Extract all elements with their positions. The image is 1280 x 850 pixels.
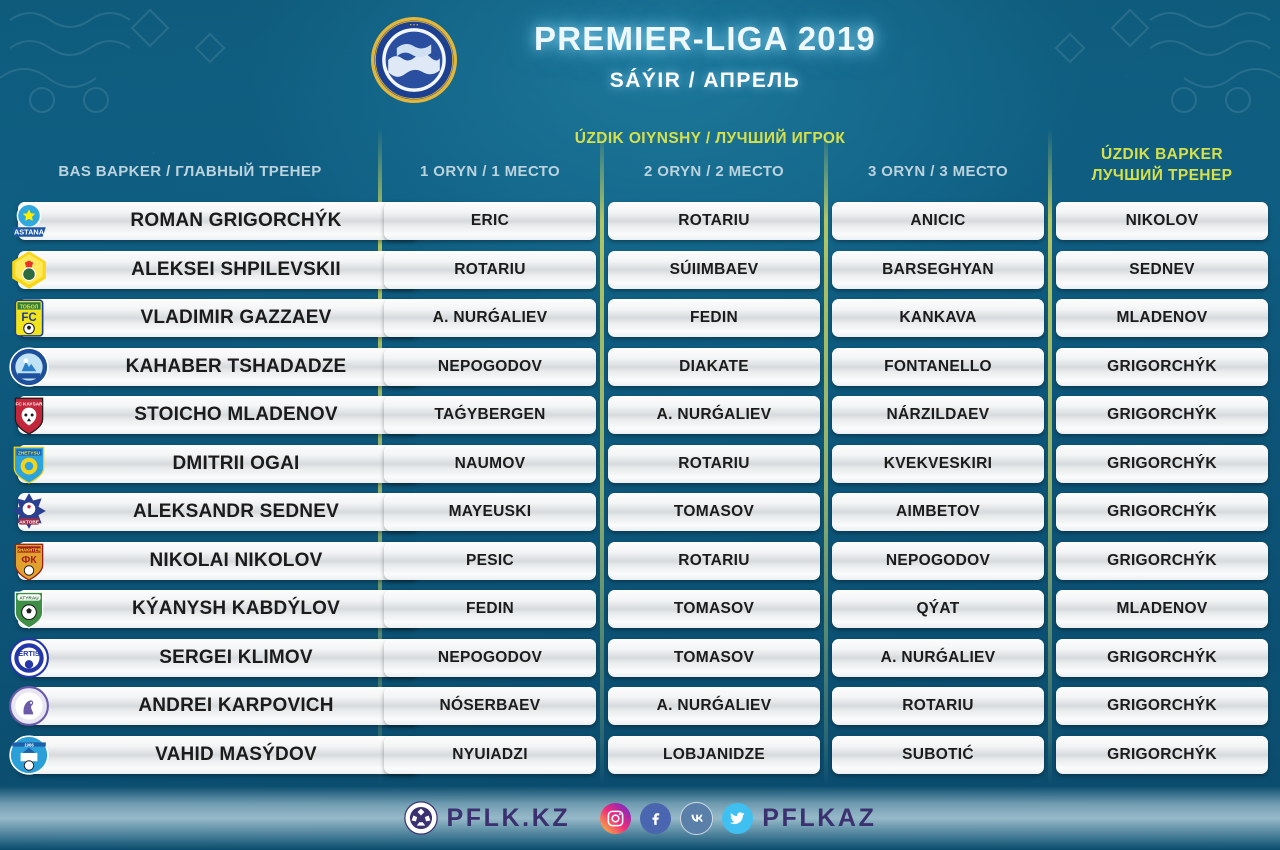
place2-cell: DIAKATE bbox=[608, 348, 820, 386]
svg-text:SHAKHTER: SHAKHTER bbox=[17, 547, 40, 552]
club-crest-ordabasy-icon bbox=[8, 346, 50, 388]
club-crest-astana-icon: ASTANA bbox=[8, 200, 50, 242]
coach-row: NIKOLAI NIKOLOV bbox=[18, 542, 418, 580]
page-subtitle: SÁÝIR / АПРЕЛЬ bbox=[470, 69, 940, 93]
svg-text:ФК: ФК bbox=[21, 554, 37, 566]
best-coach-cell: GRIGORCHÝK bbox=[1056, 687, 1268, 725]
club-crest-tobol-icon: ТОБОЛFC bbox=[8, 297, 50, 339]
place3-cell: BARSEGHYAN bbox=[832, 251, 1044, 289]
pfl-kazakhstan-crest-icon: • • • bbox=[371, 17, 457, 103]
coach-name: SERGEI KLIMOV bbox=[76, 647, 418, 669]
column-divider-3 bbox=[824, 128, 828, 786]
vk-icon[interactable] bbox=[680, 802, 713, 835]
place3-cell: KANKAVA bbox=[832, 299, 1044, 337]
place1-cell: PESIC bbox=[384, 542, 596, 580]
coach-name: KÝANYSH KABDÝLOV bbox=[76, 598, 418, 620]
club-crest-shakhter-icon: SHAKHTERФК bbox=[8, 540, 50, 582]
svg-text:ZHETYSU: ZHETYSU bbox=[18, 450, 41, 456]
place1-cell: A. NURǴALIEV bbox=[384, 299, 596, 337]
pflk-logo-icon bbox=[404, 801, 438, 835]
club-crest-aktobe-icon: AKTOBE bbox=[8, 491, 50, 533]
infographic-page: • • • PREMIER-LIGA 2019 SÁÝIR / АПРЕЛЬ Ú… bbox=[0, 0, 1280, 850]
place2-cell: LOBJANIDZE bbox=[608, 736, 820, 774]
place2-cell: TOMASOV bbox=[608, 639, 820, 677]
place2-cell: SÚIIMBAEV bbox=[608, 251, 820, 289]
svg-text:1966: 1966 bbox=[24, 742, 34, 747]
page-title: PREMIER-LIGA 2019 bbox=[470, 20, 940, 58]
page-footer: PFLK.KZ bbox=[0, 786, 1280, 850]
coach-name: ALEKSEI SHPILEVSKII bbox=[76, 259, 418, 281]
best-coach-cell: GRIGORCHÝK bbox=[1056, 445, 1268, 483]
club-crest-atyrau-icon: ATYRAU bbox=[8, 588, 50, 630]
coach-row: VAHID MASÝDOV bbox=[18, 736, 418, 774]
svg-text:ERTIS: ERTIS bbox=[18, 648, 40, 657]
place1-cell: MAYEUSKI bbox=[384, 493, 596, 531]
best-coach-cell: MLADENOV bbox=[1056, 590, 1268, 628]
place1-cell: NEPOGODOV bbox=[384, 348, 596, 386]
place2-cell: A. NURǴALIEV bbox=[608, 687, 820, 725]
coach-row: DMITRII OGAI bbox=[18, 445, 418, 483]
best-coach-cell: GRIGORCHÝK bbox=[1056, 396, 1268, 434]
svg-text:ТОБОЛ: ТОБОЛ bbox=[20, 305, 39, 311]
place2-cell: FEDIN bbox=[608, 299, 820, 337]
svg-text:FC KAYSAR: FC KAYSAR bbox=[15, 402, 43, 408]
place3-cell: SUBOTIĆ bbox=[832, 736, 1044, 774]
coach-name: KAHABER TSHADADZE bbox=[76, 356, 418, 378]
twitter-icon[interactable] bbox=[722, 803, 753, 834]
place1-cell: NYUIADZI bbox=[384, 736, 596, 774]
coach-column-header: BAS BAPKER / ГЛАВНЫЙ ТРЕНЕР bbox=[20, 163, 360, 180]
place2-column-header: 2 ORYN / 2 МЕСТО bbox=[608, 163, 820, 180]
coach-row: ALEKSANDR SEDNEV bbox=[18, 493, 418, 531]
place2-cell: A. NURǴALIEV bbox=[608, 396, 820, 434]
place1-column-header: 1 ORYN / 1 МЕСТО bbox=[384, 163, 596, 180]
place3-cell: ANICIC bbox=[832, 202, 1044, 240]
place3-cell: A. NURǴALIEV bbox=[832, 639, 1044, 677]
coach-name: ROMAN GRIGORCHÝK bbox=[76, 210, 418, 232]
best-coach-cell: GRIGORCHÝK bbox=[1056, 639, 1268, 677]
best-coach-cell: GRIGORCHÝK bbox=[1056, 736, 1268, 774]
club-crest-kaysar-icon: FC KAYSAR bbox=[8, 394, 50, 436]
place2-cell: TOMASOV bbox=[608, 493, 820, 531]
coach-row: VLADIMIR GAZZAEV bbox=[18, 299, 418, 337]
page-header: • • • PREMIER-LIGA 2019 SÁÝIR / АПРЕЛЬ bbox=[0, 0, 1280, 120]
coach-row: ALEKSEI SHPILEVSKII bbox=[18, 251, 418, 289]
place1-cell: FEDIN bbox=[384, 590, 596, 628]
svg-text:FC: FC bbox=[21, 312, 37, 324]
facebook-icon[interactable] bbox=[640, 803, 671, 834]
club-crest-kairat-icon bbox=[8, 249, 50, 291]
club-crest-kyzylzhar-icon bbox=[8, 685, 50, 727]
best-coach-cell: GRIGORCHÝK bbox=[1056, 542, 1268, 580]
place1-cell: NÓSERBAEV bbox=[384, 687, 596, 725]
place1-cell: TAǴYBERGEN bbox=[384, 396, 596, 434]
place2-cell: ROTARIU bbox=[608, 202, 820, 240]
player-group-header: ÚZDIK OIYNSHY / ЛУЧШИЙ ИГРОК bbox=[560, 130, 860, 148]
place3-cell: NEPOGODOV bbox=[832, 542, 1044, 580]
coach-name: ANDREI KARPOVICH bbox=[76, 695, 418, 717]
place3-cell: AIMBETOV bbox=[832, 493, 1044, 531]
place3-column-header: 3 ORYN / 3 МЕСТО bbox=[832, 163, 1044, 180]
best-coach-header-line2: ЛУЧШИЙ ТРЕНЕР bbox=[1056, 167, 1268, 185]
place1-cell: ERIC bbox=[384, 202, 596, 240]
coach-row: KAHABER TSHADADZE bbox=[18, 348, 418, 386]
coach-name: VLADIMIR GAZZAEV bbox=[76, 307, 418, 329]
svg-text:ASTANA: ASTANA bbox=[14, 228, 45, 237]
best-coach-cell: NIKOLOV bbox=[1056, 202, 1268, 240]
place3-cell: FONTANELLO bbox=[832, 348, 1044, 386]
club-crest-zhetysu-icon: ZHETYSU bbox=[8, 443, 50, 485]
place3-cell: KVEKVESKIRI bbox=[832, 445, 1044, 483]
place1-cell: ROTARIU bbox=[384, 251, 596, 289]
instagram-icon[interactable] bbox=[600, 803, 631, 834]
best-coach-header-line1: ÚZDIK BAPKER bbox=[1056, 146, 1268, 164]
place1-cell: NAUMOV bbox=[384, 445, 596, 483]
best-coach-cell: GRIGORCHÝK bbox=[1056, 348, 1268, 386]
svg-text:• • •: • • • bbox=[410, 22, 418, 28]
svg-text:AKTOBE: AKTOBE bbox=[19, 520, 39, 526]
coach-name: VAHID MASÝDOV bbox=[76, 744, 418, 766]
coach-row: ROMAN GRIGORCHÝK bbox=[18, 202, 418, 240]
handle-label: PFLKAZ bbox=[762, 804, 876, 833]
svg-text:ATYRAU: ATYRAU bbox=[19, 596, 39, 602]
coach-row: KÝANYSH KABDÝLOV bbox=[18, 590, 418, 628]
site-label: PFLK.KZ bbox=[447, 804, 571, 833]
column-divider-2 bbox=[600, 128, 604, 786]
coach-name: DMITRII OGAI bbox=[76, 453, 418, 475]
place2-cell: ROTARIU bbox=[608, 445, 820, 483]
coach-name: ALEKSANDR SEDNEV bbox=[76, 501, 418, 523]
best-coach-cell: GRIGORCHÝK bbox=[1056, 493, 1268, 531]
coach-name: STOICHO MLADENOV bbox=[76, 404, 418, 426]
coach-row: STOICHO MLADENOV bbox=[18, 396, 418, 434]
club-crest-taraz-icon: 1966 bbox=[8, 734, 50, 776]
best-coach-cell: MLADENOV bbox=[1056, 299, 1268, 337]
place3-cell: QÝAT bbox=[832, 590, 1044, 628]
best-coach-cell: SEDNEV bbox=[1056, 251, 1268, 289]
club-crest-irtysh-icon: ERTIS bbox=[8, 637, 50, 679]
place3-cell: NÁRZILDAEV bbox=[832, 396, 1044, 434]
place2-cell: TOMASOV bbox=[608, 590, 820, 628]
place3-cell: ROTARIU bbox=[832, 687, 1044, 725]
place1-cell: NEPOGODOV bbox=[384, 639, 596, 677]
coach-row: ANDREI KARPOVICH bbox=[18, 687, 418, 725]
coach-name: NIKOLAI NIKOLOV bbox=[76, 550, 418, 572]
coach-row: SERGEI KLIMOV bbox=[18, 639, 418, 677]
column-divider-4 bbox=[1048, 128, 1052, 786]
place2-cell: ROTARIU bbox=[608, 542, 820, 580]
